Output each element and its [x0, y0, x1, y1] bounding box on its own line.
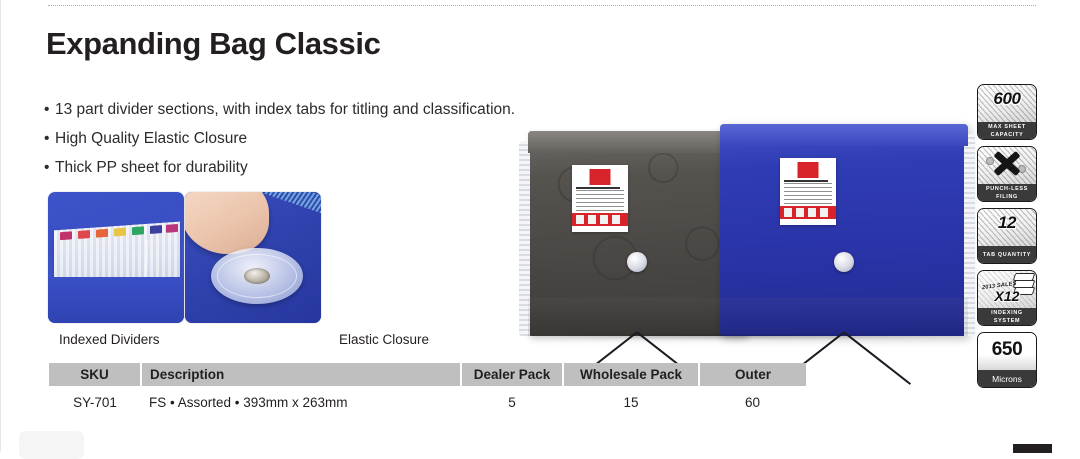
thumbnail-caption: Indexed Dividers	[59, 332, 160, 347]
elastic-band	[769, 272, 919, 334]
smoke-expanding-bag	[528, 131, 746, 336]
elastic-band	[562, 272, 712, 334]
feature-text: High Quality Elastic Closure	[55, 130, 247, 147]
hero-product-photo	[524, 118, 980, 340]
sku-table: SKU Description Dealer Pack Wholesale Pa…	[49, 363, 806, 419]
microns-badge: 650 Microns	[977, 332, 1037, 388]
index-tabs-icon: 12	[978, 209, 1036, 246]
badge-caption-line2: CAPACITY	[991, 131, 1024, 139]
page-left-edge	[0, 0, 1, 452]
badge-caption: PUNCH-LESS FILING	[978, 184, 1036, 201]
label-title-line	[576, 187, 620, 189]
cell-wholesale-pack: 15	[563, 386, 699, 419]
cell-outer: 60	[699, 386, 806, 419]
page-title: Expanding Bag Classic	[46, 26, 380, 62]
thumbnail-elastic-closure: Elastic Closure	[185, 192, 321, 323]
badge-caption-line2: FILING	[996, 193, 1018, 201]
column-header-wholesale-pack: Wholesale Pack	[563, 363, 699, 386]
closure-button	[834, 252, 854, 272]
badge-caption-line1: INDEXING	[991, 309, 1023, 317]
badge-caption-line2: SYSTEM	[994, 317, 1020, 325]
thumbnail-indexed-dividers: Indexed Dividers	[48, 192, 184, 323]
top-dotted-divider	[48, 5, 1036, 7]
brand-logo-icon	[590, 169, 611, 185]
badge-value: X12	[978, 288, 1036, 304]
labelled-index-tabs-icon: 2013 SALES X12	[978, 271, 1036, 308]
column-header-sku: SKU	[49, 363, 141, 386]
blue-expanding-bag	[720, 124, 968, 336]
bottom-left-placeholder-box	[19, 431, 84, 459]
label-footer	[572, 227, 628, 232]
closure-button-disc	[211, 248, 303, 304]
badge-caption-line1: Microns	[992, 375, 1022, 383]
badge-caption: INDEXING SYSTEM	[978, 308, 1036, 325]
badge-caption: TAB QUANTITY	[978, 246, 1036, 263]
bullet-icon: •	[44, 153, 55, 182]
badge-caption-line1: MAX SHEET	[988, 123, 1026, 131]
indexed-dividers-photo	[48, 192, 184, 323]
feature-badge-rail: 600 MAX SHEET CAPACITY PUNCH-LESS FILING…	[977, 84, 1035, 394]
elastic-closure-photo	[185, 192, 321, 323]
cell-sku: SY-701	[49, 386, 141, 419]
label-footer	[780, 220, 836, 225]
product-label	[572, 165, 628, 232]
punch-less-filing-badge: PUNCH-LESS FILING	[977, 146, 1037, 202]
x-crossed-punch-holes-icon	[978, 147, 1036, 184]
badge-value: 12	[978, 213, 1036, 233]
column-header-description: Description	[141, 363, 461, 386]
bullet-icon: •	[44, 95, 55, 124]
badge-value: 600	[978, 89, 1036, 109]
bag-front-panel	[48, 277, 184, 323]
product-shadow	[534, 333, 964, 340]
label-icon-strip	[572, 213, 628, 226]
badge-caption: Microns	[978, 370, 1036, 387]
cell-description: FS • Assorted • 393mm x 263mm	[141, 386, 461, 419]
feature-text: 13 part divider sections, with index tab…	[55, 101, 515, 118]
stacked-sheets-icon: 600	[978, 85, 1036, 122]
max-sheet-capacity-badge: 600 MAX SHEET CAPACITY	[977, 84, 1037, 140]
thumbnail-caption: Elastic Closure	[339, 332, 429, 347]
indexing-system-badge: 2013 SALES X12 INDEXING SYSTEM	[977, 270, 1037, 326]
product-label	[780, 158, 836, 225]
bag-top-edge	[528, 131, 746, 153]
table-row: SY-701 FS • Assorted • 393mm x 263mm 5 1…	[49, 386, 806, 419]
badge-caption-line1: TAB QUANTITY	[983, 251, 1031, 259]
label-title-line	[784, 180, 828, 182]
x-icon	[992, 148, 1022, 178]
bullet-icon: •	[44, 124, 55, 153]
tab-quantity-badge: 12 TAB QUANTITY	[977, 208, 1037, 264]
finger	[185, 192, 269, 254]
column-header-outer: Outer	[699, 363, 806, 386]
cell-dealer-pack: 5	[461, 386, 563, 419]
badge-value: 650	[978, 339, 1036, 361]
brand-logo-icon	[798, 162, 819, 178]
feature-text: Thick PP sheet for durability	[55, 159, 248, 176]
label-icon-strip	[780, 206, 836, 219]
badge-caption: MAX SHEET CAPACITY	[978, 122, 1036, 139]
closure-button	[627, 252, 647, 272]
material-thickness-icon: 650	[978, 333, 1036, 370]
column-header-dealer-pack: Dealer Pack	[461, 363, 563, 386]
table-header-row: SKU Description Dealer Pack Wholesale Pa…	[49, 363, 806, 386]
bag-top-edge	[720, 124, 968, 146]
badge-caption-line1: PUNCH-LESS	[986, 185, 1028, 193]
